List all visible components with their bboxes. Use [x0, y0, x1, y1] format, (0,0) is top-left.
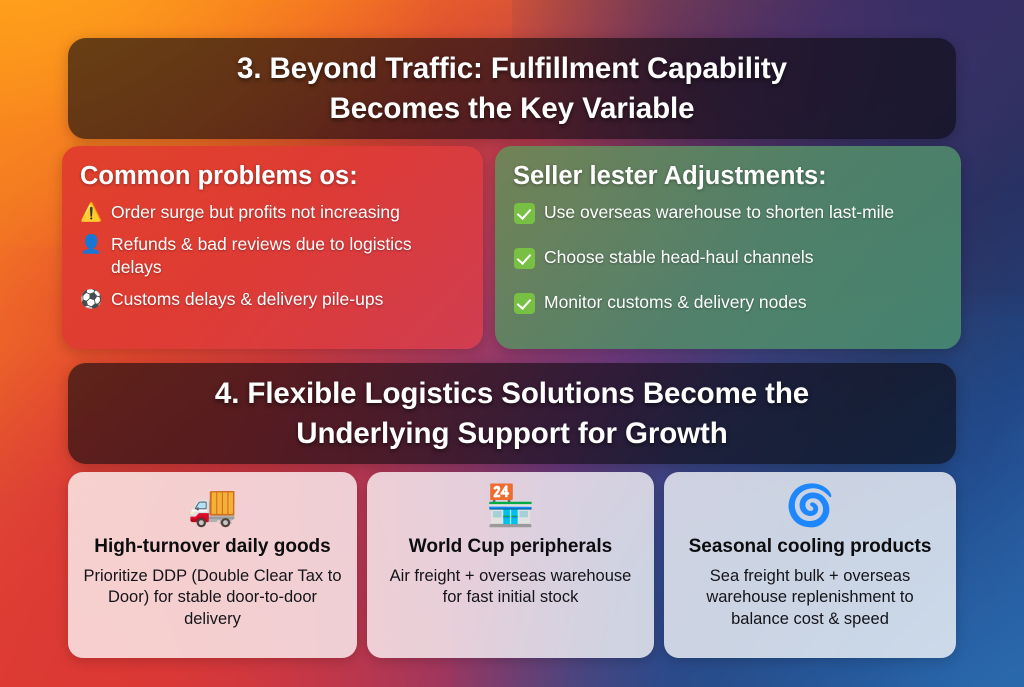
warning-triangle-icon: ⚠️	[80, 201, 103, 224]
common-problems-title: Common problems os:	[80, 162, 465, 190]
soccer-ball-icon: ⚽	[80, 288, 103, 311]
delivery-truck-icon: 🚚	[188, 482, 238, 530]
list-item-label: Monitor customs & delivery nodes	[544, 291, 807, 314]
infographic-poster: 3. Beyond Traffic: Fulfillment Capabilit…	[0, 0, 1024, 687]
solution-card-description: Sea freight bulk + overseas warehouse re…	[676, 566, 944, 631]
poster-content: 3. Beyond Traffic: Fulfillment Capabilit…	[0, 0, 1024, 687]
list-item-label: Refunds & bad reviews due to logistics d…	[111, 233, 465, 279]
person-bust-icon: 👤	[80, 233, 103, 256]
warehouse-icon: 🏪	[486, 482, 536, 530]
list-item: ⚠️ Order surge but profits not increasin…	[80, 201, 465, 224]
solution-card: 🌀 Seasonal cooling products Sea freight …	[664, 472, 956, 658]
solution-card-description: Prioritize DDP (Double Clear Tax to Door…	[80, 566, 345, 631]
list-item-label: Choose stable head-haul channels	[544, 246, 814, 269]
list-item: 👤 Refunds & bad reviews due to logistics…	[80, 233, 465, 279]
common-problems-list: ⚠️ Order surge but profits not increasin…	[80, 201, 465, 311]
solution-card-description: Air freight + overseas warehouse for fas…	[379, 566, 642, 609]
list-item: ⚽ Customs delays & delivery pile-ups	[80, 288, 465, 311]
solution-card-title: High-turnover daily goods	[94, 536, 330, 559]
list-item: Monitor customs & delivery nodes	[513, 291, 943, 320]
solution-card: 🏪 World Cup peripherals Air freight + ov…	[367, 472, 654, 658]
list-item-label: Use overseas warehouse to shorten last-m…	[544, 201, 894, 224]
seller-adjustments-panel: Seller lester Adjustments: Use overseas …	[495, 146, 961, 349]
solution-card-title: Seasonal cooling products	[689, 536, 932, 559]
solution-card-title: World Cup peripherals	[409, 536, 612, 559]
check-box-icon	[513, 201, 536, 230]
solution-card: 🚚 High-turnover daily goods Prioritize D…	[68, 472, 357, 658]
section-3-banner: 3. Beyond Traffic: Fulfillment Capabilit…	[68, 38, 956, 139]
list-item: Use overseas warehouse to shorten last-m…	[513, 201, 943, 230]
check-box-icon	[513, 291, 536, 320]
section-4-title: 4. Flexible Logistics Solutions Become t…	[189, 374, 835, 452]
check-box-icon	[513, 246, 536, 275]
seller-adjustments-list: Use overseas warehouse to shorten last-m…	[513, 201, 943, 320]
electric-fan-icon: 🌀	[785, 482, 835, 530]
section-4-banner: 4. Flexible Logistics Solutions Become t…	[68, 363, 956, 464]
list-item-label: Customs delays & delivery pile-ups	[111, 288, 383, 311]
list-item-label: Order surge but profits not increasing	[111, 201, 400, 224]
list-item: Choose stable head-haul channels	[513, 246, 943, 275]
seller-adjustments-title: Seller lester Adjustments:	[513, 162, 943, 190]
section-3-title: 3. Beyond Traffic: Fulfillment Capabilit…	[211, 49, 813, 127]
common-problems-panel: Common problems os: ⚠️ Order surge but p…	[62, 146, 483, 349]
